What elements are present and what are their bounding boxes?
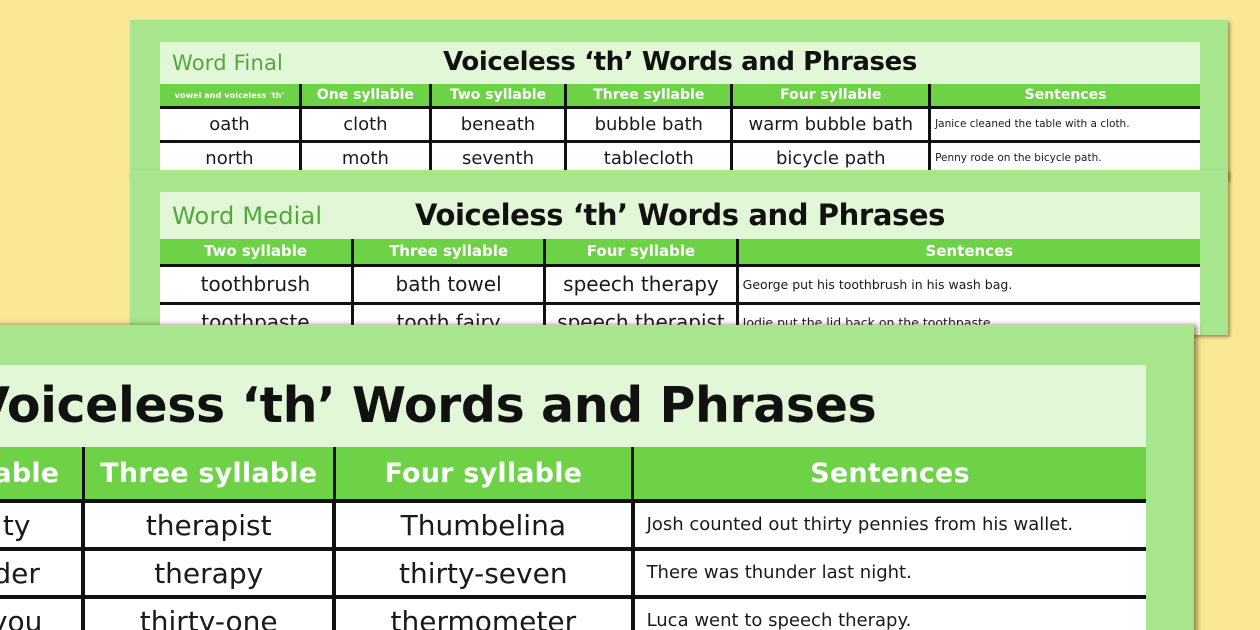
worksheet-card-word-final: Word Final Voiceless ‘th’ Words and Phra… [130, 20, 1228, 180]
sentence-cell: There was thunder last night. [633, 549, 1146, 597]
column-header-vowel-and-voiceless-th: vowel and voiceless 'th' [160, 84, 300, 108]
column-header-four-syllable: Four syllable [334, 447, 633, 501]
card-content: Word Medial Voiceless ‘th’ Words and Phr… [160, 192, 1200, 335]
table-header-row: vowel and voiceless 'th' One syllable Tw… [160, 84, 1200, 108]
word-cell: der [0, 549, 83, 597]
word-table-word-final: vowel and voiceless 'th' One syllable Tw… [160, 84, 1200, 177]
card-title-strip: Word Final Voiceless ‘th’ Words and Phra… [160, 42, 1200, 84]
word-cell: bubble bath [566, 108, 732, 142]
column-header-three-syllable: Three syllable [352, 239, 544, 265]
column-header-sentences: Sentences [930, 84, 1200, 108]
table-row: ty therapist Thumbelina Josh counted out… [0, 501, 1146, 549]
page-title: Voiceless ‘th’ Words and Phrases [160, 47, 1200, 77]
word-cell: toothbrush [160, 265, 352, 303]
word-cell: bath towel [352, 265, 544, 303]
table-row: der therapy thirty-seven There was thund… [0, 549, 1146, 597]
word-cell: warm bubble bath [732, 108, 930, 142]
column-header-sentences: Sentences [737, 239, 1200, 265]
page-title: Voiceless ‘th’ Words and Phrases [160, 198, 1200, 232]
column-header-four-syllable: Four syllable [732, 84, 930, 108]
column-header-sentences: Sentences [633, 447, 1146, 501]
word-cell: cloth [300, 108, 430, 142]
word-cell: thirty-seven [334, 549, 633, 597]
word-cell: therapy [83, 549, 334, 597]
word-cell: you [0, 597, 83, 630]
word-table-word-medial: Two syllable Three syllable Four syllabl… [160, 239, 1200, 335]
column-header-two-syllable: Two syllable [160, 239, 352, 265]
worksheet-card-foreground: Voiceless ‘th’ Words and Phrases llable … [0, 325, 1194, 630]
word-table-foreground: llable Three syllable Four syllable Sent… [0, 447, 1146, 630]
page-title: Voiceless ‘th’ Words and Phrases [0, 377, 1146, 434]
worksheet-card-word-medial: Word Medial Voiceless ‘th’ Words and Phr… [130, 170, 1228, 335]
card-content: Voiceless ‘th’ Words and Phrases llable … [0, 365, 1146, 630]
worksheet-stage: Word Final Voiceless ‘th’ Words and Phra… [0, 0, 1260, 630]
column-header-two-syllable: Two syllable [430, 84, 565, 108]
word-cell: Thumbelina [334, 501, 633, 549]
column-header-three-syllable: Three syllable [83, 447, 334, 501]
card-title-strip: Word Medial Voiceless ‘th’ Words and Phr… [160, 192, 1200, 239]
table-header-row: llable Three syllable Four syllable Sent… [0, 447, 1146, 501]
column-header-three-syllable: Three syllable [566, 84, 732, 108]
word-cell: thirty-one [83, 597, 334, 630]
sentence-cell: George put his toothbrush in his wash ba… [737, 265, 1200, 303]
sentence-cell: Luca went to speech therapy. [633, 597, 1146, 630]
word-cell: speech therapy [545, 265, 737, 303]
column-header-one-syllable: One syllable [300, 84, 430, 108]
table-header-row: Two syllable Three syllable Four syllabl… [160, 239, 1200, 265]
sentence-cell: Josh counted out thirty pennies from his… [633, 501, 1146, 549]
column-header-two-syllable-clipped: llable [0, 447, 83, 501]
word-cell: ty [0, 501, 83, 549]
card-content: Word Final Voiceless ‘th’ Words and Phra… [160, 42, 1200, 177]
sentence-cell: Janice cleaned the table with a cloth. [930, 108, 1200, 142]
table-row: toothbrush bath towel speech therapy Geo… [160, 265, 1200, 303]
card-title-strip: Voiceless ‘th’ Words and Phrases [0, 365, 1146, 447]
word-cell: oath [160, 108, 300, 142]
column-header-four-syllable: Four syllable [545, 239, 737, 265]
table-row: you thirty-one thermometer Luca went to … [0, 597, 1146, 630]
word-cell: therapist [83, 501, 334, 549]
table-row: oath cloth beneath bubble bath warm bubb… [160, 108, 1200, 142]
word-cell: beneath [430, 108, 565, 142]
word-cell: thermometer [334, 597, 633, 630]
